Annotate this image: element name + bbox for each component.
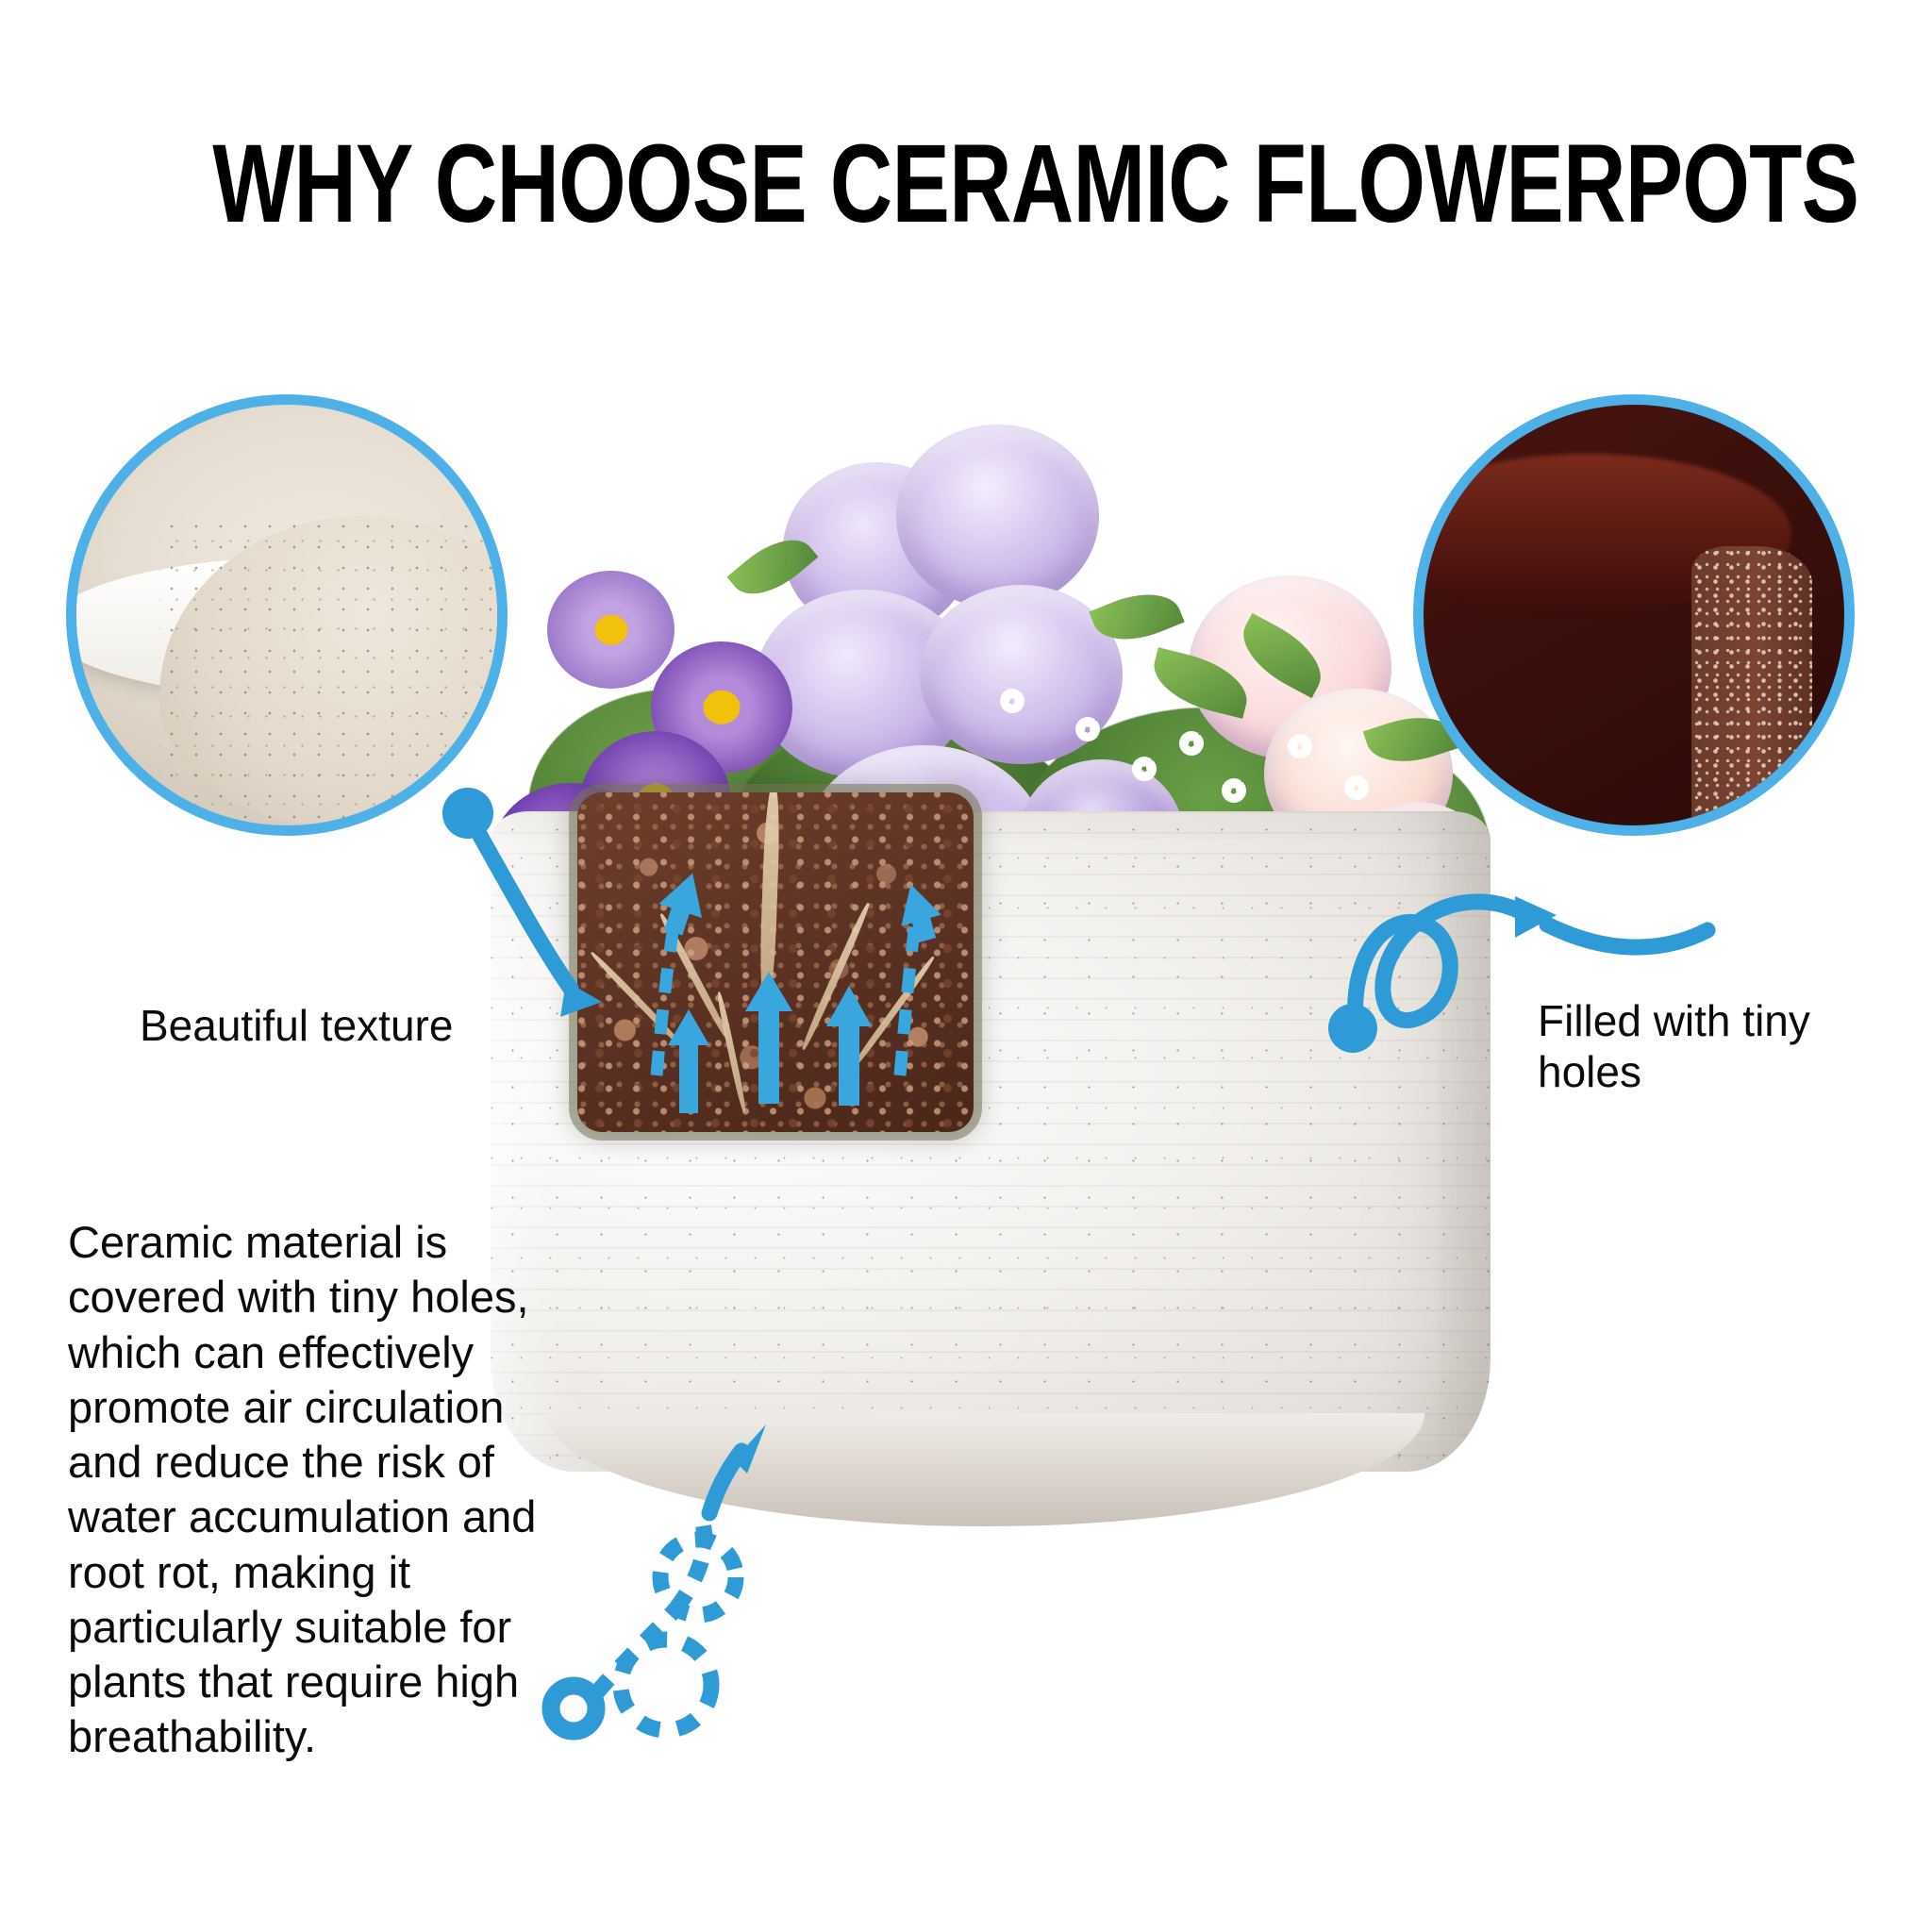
body-paragraph: Ceramic material is covered with tiny ho… [68, 1215, 540, 1765]
callout-label-tiny-holes: Filled with tiny holes [1538, 995, 1877, 1098]
pot-base [547, 1413, 1424, 1526]
porous-edge-detail [1691, 546, 1812, 836]
product-photo [491, 406, 1491, 1575]
callout-circle-texture[interactable] [66, 394, 508, 836]
connector-tail-right [1547, 924, 1707, 947]
callout-label-texture: Beautiful texture [140, 1000, 545, 1051]
airflow-arrows [577, 792, 974, 1132]
page-title: WHY CHOOSE CERAMIC FLOWERPOTS [212, 128, 1719, 240]
speckle-detail [159, 516, 508, 827]
infographic-canvas: WHY CHOOSE CERAMIC FLOWERPOTS [0, 0, 1932, 1932]
connector-arrowhead-right [1515, 896, 1557, 938]
callout-circle-tiny-holes[interactable] [1413, 394, 1855, 836]
pot-interior [159, 516, 508, 827]
soil-cutaway-window [577, 792, 974, 1132]
